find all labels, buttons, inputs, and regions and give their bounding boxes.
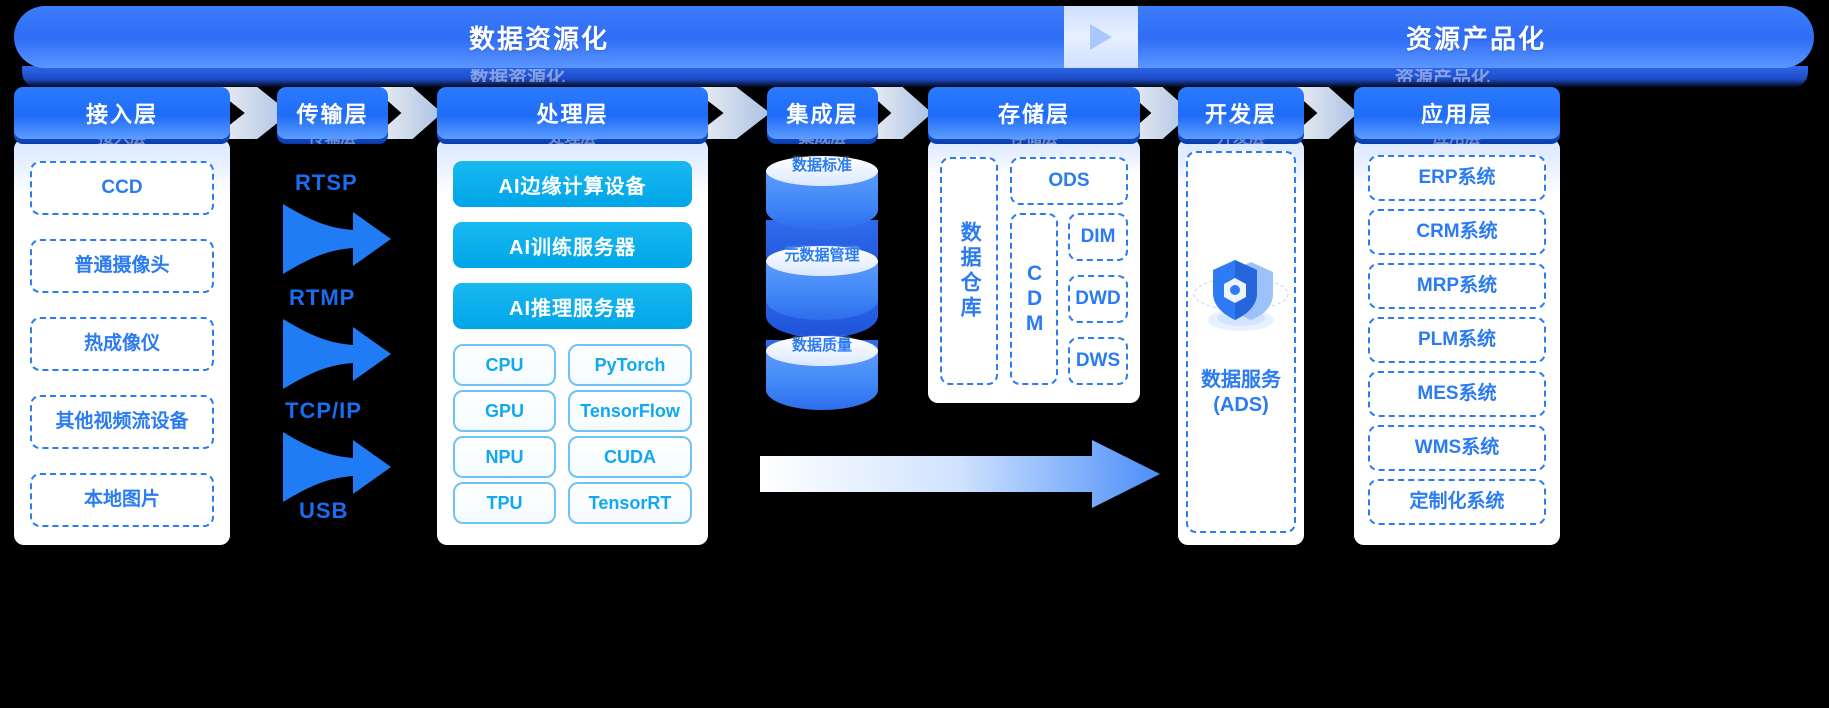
development-data-service[interactable]: 数据服务 (ADS) bbox=[1186, 151, 1296, 533]
panel-access-layer: CCD 普通摄像头 热成像仪 其他视频流设备 本地图片 bbox=[14, 139, 230, 545]
application-item-mes[interactable]: MES系统 bbox=[1368, 371, 1546, 417]
banner-resource-productization: 资源产品化 bbox=[1138, 6, 1814, 68]
storage-cdm[interactable]: CDM bbox=[1010, 213, 1058, 385]
cylinder-data-quality[interactable]: 数据质量 bbox=[766, 336, 878, 422]
protocol-label-rtsp: RTSP bbox=[295, 170, 358, 196]
diagram-canvas: 数据资源化 资源产品化 数据资源化 资源产品化 接入层 接入层 传输层 传输层 … bbox=[0, 0, 1829, 708]
storage-data-warehouse[interactable]: 数据仓库 bbox=[940, 157, 998, 385]
application-item-crm[interactable]: CRM系统 bbox=[1368, 209, 1546, 255]
application-item-plm[interactable]: PLM系统 bbox=[1368, 317, 1546, 363]
application-item-mrp[interactable]: MRP系统 bbox=[1368, 263, 1546, 309]
processing-server-inference[interactable]: AI推理服务器 bbox=[453, 283, 692, 329]
application-item-erp[interactable]: ERP系统 bbox=[1368, 155, 1546, 201]
banner-shadow bbox=[22, 66, 1808, 88]
banner-ghost-left: 数据资源化 bbox=[470, 69, 565, 82]
chip-processing[interactable]: 处理层 bbox=[437, 87, 708, 139]
storage-dws[interactable]: DWS bbox=[1068, 337, 1128, 385]
access-item-camera[interactable]: 普通摄像头 bbox=[30, 239, 214, 293]
protocol-label-rtmp: RTMP bbox=[289, 285, 355, 311]
right-arrow-icon bbox=[1090, 24, 1112, 50]
processing-hw-tpu[interactable]: TPU bbox=[453, 482, 556, 524]
banner-data-resourcing: 数据资源化 bbox=[14, 6, 1064, 68]
panel-transmission-layer: RTSP RTMP TCP/IP USB bbox=[277, 150, 399, 545]
cylinder-label-data-standard: 数据标准 bbox=[766, 154, 878, 175]
processing-server-training[interactable]: AI训练服务器 bbox=[453, 222, 692, 268]
processing-hw-cpu[interactable]: CPU bbox=[453, 344, 556, 386]
application-item-custom[interactable]: 定制化系统 bbox=[1368, 479, 1546, 525]
processing-fw-pytorch[interactable]: PyTorch bbox=[568, 344, 692, 386]
processing-hw-npu[interactable]: NPU bbox=[453, 436, 556, 478]
processing-hw-gpu[interactable]: GPU bbox=[453, 390, 556, 432]
development-service-label-line2: (ADS) bbox=[1201, 393, 1281, 418]
chip-storage[interactable]: 存储层 bbox=[928, 87, 1140, 139]
cylinder-label-data-quality: 数据质量 bbox=[766, 334, 878, 355]
chip-application[interactable]: 应用层 bbox=[1354, 87, 1560, 139]
panel-storage-layer: 数据仓库 ODS CDM DIM DWD DWS bbox=[928, 139, 1140, 403]
development-service-label-line1: 数据服务 bbox=[1201, 368, 1281, 393]
banner-arrow-separator bbox=[1064, 6, 1138, 68]
processing-fw-tensorflow[interactable]: TensorFlow bbox=[568, 390, 692, 432]
access-item-ccd[interactable]: CCD bbox=[30, 161, 214, 215]
storage-dwd[interactable]: DWD bbox=[1068, 275, 1128, 323]
processing-fw-tensorrt[interactable]: TensorRT bbox=[568, 482, 692, 524]
shield-cube-icon bbox=[1189, 248, 1293, 344]
storage-ods[interactable]: ODS bbox=[1010, 157, 1128, 205]
transmission-arrow-1 bbox=[277, 200, 395, 278]
cylinder-data-standard[interactable]: 数据标准 bbox=[766, 156, 878, 242]
protocol-label-tcpip: TCP/IP bbox=[285, 398, 362, 424]
application-item-wms[interactable]: WMS系统 bbox=[1368, 425, 1546, 471]
top-banner: 数据资源化 资源产品化 bbox=[14, 6, 1814, 68]
chip-development[interactable]: 开发层 bbox=[1178, 87, 1304, 139]
chip-integration[interactable]: 集成层 bbox=[767, 87, 878, 139]
panel-processing-layer: AI边缘计算设备 AI训练服务器 AI推理服务器 CPU GPU NPU TPU… bbox=[437, 139, 708, 545]
access-item-thermal[interactable]: 热成像仪 bbox=[30, 317, 214, 371]
transmission-arrow-3 bbox=[277, 428, 395, 506]
panel-development-layer: 数据服务 (ADS) bbox=[1178, 139, 1304, 545]
chip-transmission[interactable]: 传输层 bbox=[277, 87, 388, 139]
storage-dim[interactable]: DIM bbox=[1068, 213, 1128, 261]
cylinder-metadata-management[interactable]: 元数据管理 bbox=[766, 246, 878, 332]
cylinder-label-metadata-management: 元数据管理 bbox=[766, 244, 878, 265]
panel-application-layer: ERP系统 CRM系统 MRP系统 PLM系统 MES系统 WMS系统 定制化系… bbox=[1354, 139, 1560, 545]
protocol-label-usb: USB bbox=[299, 498, 348, 524]
transmission-arrow-2 bbox=[277, 315, 395, 393]
processing-server-edge[interactable]: AI边缘计算设备 bbox=[453, 161, 692, 207]
chip-access[interactable]: 接入层 bbox=[14, 87, 230, 139]
access-item-other-stream[interactable]: 其他视频流设备 bbox=[30, 395, 214, 449]
processing-fw-cuda[interactable]: CUDA bbox=[568, 436, 692, 478]
panel-integration-layer: 数据质量 元数据管理 数据标准 bbox=[766, 150, 880, 440]
process-flow-arrow bbox=[760, 438, 1160, 510]
access-item-local-image[interactable]: 本地图片 bbox=[30, 473, 214, 527]
banner-ghost-right: 资源产品化 bbox=[1395, 69, 1490, 82]
